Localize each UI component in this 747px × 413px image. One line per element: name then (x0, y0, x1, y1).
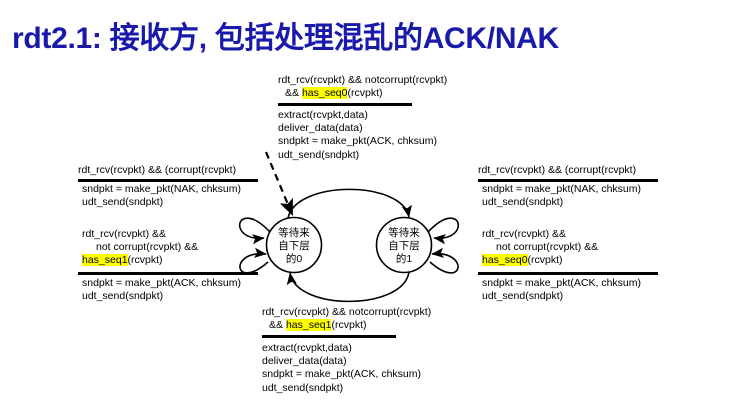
transition-top-cond-line1: rdt_rcv(rcvpkt) && notcorrupt(rcvpkt) (278, 74, 447, 87)
transition-left-upper-cond-line1: rdt_rcv(rcvpkt) && (corrupt(rcvpkt) (78, 164, 236, 177)
state-label-wait-0-line1: 等待来 (266, 227, 322, 240)
transition-left-lower-divider (78, 272, 258, 275)
transition-right-lower-cond-line2-text: not corrupt(rcvpkt) && (496, 241, 598, 253)
transition-right-lower-action: sndpkt = make_pkt(ACK, chksum) udt_send(… (482, 277, 641, 303)
transition-right-lower-cond-line1: rdt_rcv(rcvpkt) && (482, 228, 598, 241)
self-loop-right-lower (430, 254, 458, 273)
transition-left-upper-condition: rdt_rcv(rcvpkt) && (corrupt(rcvpkt) (78, 164, 236, 177)
state-label-wait-0-line3: 的0 (266, 253, 322, 266)
state-label-wait-0: 等待来 自下层 的0 (266, 227, 322, 266)
arc-bottom-1-to-0 (290, 272, 409, 301)
transition-bottom-action: extract(rcvpkt,data) deliver_data(data) … (262, 342, 421, 395)
transition-left-lower-action: sndpkt = make_pkt(ACK, chksum) udt_send(… (82, 277, 241, 303)
transition-right-upper-action-line1: sndpkt = make_pkt(NAK, chksum) (482, 183, 641, 196)
transition-right-lower-divider (478, 272, 658, 275)
transition-top-divider (278, 103, 412, 106)
state-label-wait-1-line3: 的1 (376, 253, 432, 266)
transition-right-lower-action-line1: sndpkt = make_pkt(ACK, chksum) (482, 277, 641, 290)
transition-right-lower-cond-highlight: has_seq0 (482, 254, 528, 266)
transition-left-lower-cond-line2-text: not corrupt(rcvpkt) && (96, 241, 198, 253)
transition-bottom-action-line4: udt_send(sndpkt) (262, 382, 421, 395)
transition-bottom-cond-prefix: && (269, 319, 286, 331)
transition-left-upper-action-line1: sndpkt = make_pkt(NAK, chksum) (82, 183, 241, 196)
transition-right-lower-cond-line3: has_seq0(rcvpkt) (482, 254, 598, 267)
state-label-wait-0-line2: 自下层 (266, 240, 322, 253)
state-label-wait-1-line1: 等待来 (376, 227, 432, 240)
transition-top-action-line4: udt_send(sndpkt) (278, 149, 437, 162)
transition-left-lower-cond-line1: rdt_rcv(rcvpkt) && (82, 228, 198, 241)
transition-left-upper-divider (78, 179, 258, 182)
transition-right-lower-cond-suffix: (rcvpkt) (528, 254, 563, 266)
self-loop-left-lower (240, 254, 268, 273)
transition-left-lower-condition: rdt_rcv(rcvpkt) && not corrupt(rcvpkt) &… (82, 228, 198, 268)
transition-left-upper-action: sndpkt = make_pkt(NAK, chksum) udt_send(… (82, 183, 241, 209)
transition-top-cond-suffix: (rcvpkt) (347, 87, 382, 99)
transition-right-upper-action-line2: udt_send(sndpkt) (482, 196, 641, 209)
transition-bottom-action-line3: sndpkt = make_pkt(ACK, chksum) (262, 368, 421, 381)
transition-left-lower-cond-line3: has_seq1(rcvpkt) (82, 254, 198, 267)
transition-bottom-cond-highlight: has_seq1 (286, 319, 332, 331)
transition-right-upper-condition: rdt_rcv(rcvpkt) && (corrupt(rcvpkt) (478, 164, 636, 177)
transition-left-lower-cond-line2: not corrupt(rcvpkt) && (82, 241, 198, 254)
transition-left-lower-cond-highlight: has_seq1 (82, 254, 128, 266)
transition-bottom-action-line2: deliver_data(data) (262, 355, 421, 368)
transition-top-cond-line2: && has_seq0(rcvpkt) (278, 87, 447, 100)
transition-right-upper-action: sndpkt = make_pkt(NAK, chksum) udt_send(… (482, 183, 641, 209)
transition-right-upper-cond-line1: rdt_rcv(rcvpkt) && (corrupt(rcvpkt) (478, 164, 636, 177)
transition-top-action-line2: deliver_data(data) (278, 122, 437, 135)
transition-top-action-line3: sndpkt = make_pkt(ACK, chksum) (278, 135, 437, 148)
transition-left-lower-action-line2: udt_send(sndpkt) (82, 290, 241, 303)
transition-left-lower-cond-suffix: (rcvpkt) (128, 254, 163, 266)
transition-top-condition: rdt_rcv(rcvpkt) && notcorrupt(rcvpkt) &&… (278, 74, 447, 100)
transition-bottom-action-line1: extract(rcvpkt,data) (262, 342, 421, 355)
state-label-wait-1-line2: 自下层 (376, 240, 432, 253)
transition-top-cond-highlight: has_seq0 (302, 87, 348, 99)
transition-bottom-condition: rdt_rcv(rcvpkt) && notcorrupt(rcvpkt) &&… (262, 306, 431, 332)
self-loop-right-upper (428, 218, 458, 238)
transition-right-lower-condition: rdt_rcv(rcvpkt) && not corrupt(rcvpkt) &… (482, 228, 598, 268)
transition-bottom-divider (262, 335, 396, 338)
transition-top-action: extract(rcvpkt,data) deliver_data(data) … (278, 109, 437, 162)
transition-bottom-cond-suffix: (rcvpkt) (331, 319, 366, 331)
arc-top-0-to-1 (288, 189, 409, 218)
transition-left-upper-action-line2: udt_send(sndpkt) (82, 196, 241, 209)
transition-top-cond-prefix: && (285, 87, 302, 99)
transition-right-upper-divider (478, 179, 658, 182)
transition-top-action-line1: extract(rcvpkt,data) (278, 109, 437, 122)
state-label-wait-1: 等待来 自下层 的1 (376, 227, 432, 266)
slide-canvas: rdt2.1: 接收方, 包括处理混乱的ACK/NAK 等待来 (0, 0, 747, 413)
transition-right-lower-cond-line2: not corrupt(rcvpkt) && (482, 241, 598, 254)
transition-left-lower-action-line1: sndpkt = make_pkt(ACK, chksum) (82, 277, 241, 290)
transition-bottom-cond-line2: && has_seq1(rcvpkt) (262, 319, 431, 332)
transition-right-lower-action-line2: udt_send(sndpkt) (482, 290, 641, 303)
transition-bottom-cond-line1: rdt_rcv(rcvpkt) && notcorrupt(rcvpkt) (262, 306, 431, 319)
